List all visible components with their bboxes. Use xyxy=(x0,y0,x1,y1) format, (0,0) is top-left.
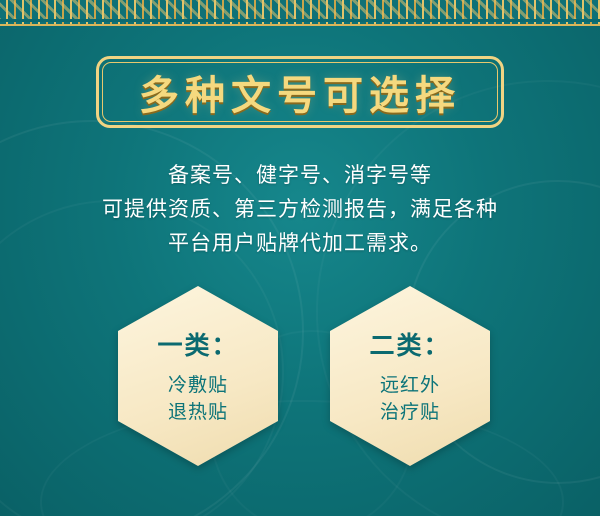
description-line-1: 备案号、健字号、消字号等 xyxy=(30,158,570,192)
category-item-2: 治疗贴 xyxy=(380,399,440,426)
category-hexagon-1: 一类： 冷敷贴 退热贴 xyxy=(118,286,278,466)
hexagon-content: 二类： 远红外 治疗贴 xyxy=(330,286,490,466)
category-item-2: 退热贴 xyxy=(168,399,228,426)
page-title: 多种文号可选择 xyxy=(96,56,504,128)
hexagon-content: 一类： 冷敷贴 退热贴 xyxy=(118,286,278,466)
category-heading: 二类： xyxy=(369,326,450,362)
description-block: 备案号、健字号、消字号等 可提供资质、第三方检测报告，满足各种 平台用户贴牌代加… xyxy=(30,158,570,260)
category-item-1: 冷敷贴 xyxy=(168,372,228,399)
category-item-1: 远红外 xyxy=(380,372,440,399)
category-hexagon-2: 二类： 远红外 治疗贴 xyxy=(330,286,490,466)
title-plaque: 多种文号可选择 xyxy=(96,56,504,128)
description-line-2: 可提供资质、第三方检测报告，满足各种 xyxy=(30,192,570,226)
ornamental-top-border xyxy=(0,0,600,26)
category-hexagons: 一类： 冷敷贴 退热贴 二类： 远红外 治疗贴 xyxy=(0,286,600,476)
category-heading: 一类： xyxy=(157,326,238,362)
description-line-3: 平台用户贴牌代加工需求。 xyxy=(30,226,570,260)
poster-canvas: 多种文号可选择 备案号、健字号、消字号等 可提供资质、第三方检测报告，满足各种 … xyxy=(0,0,600,516)
